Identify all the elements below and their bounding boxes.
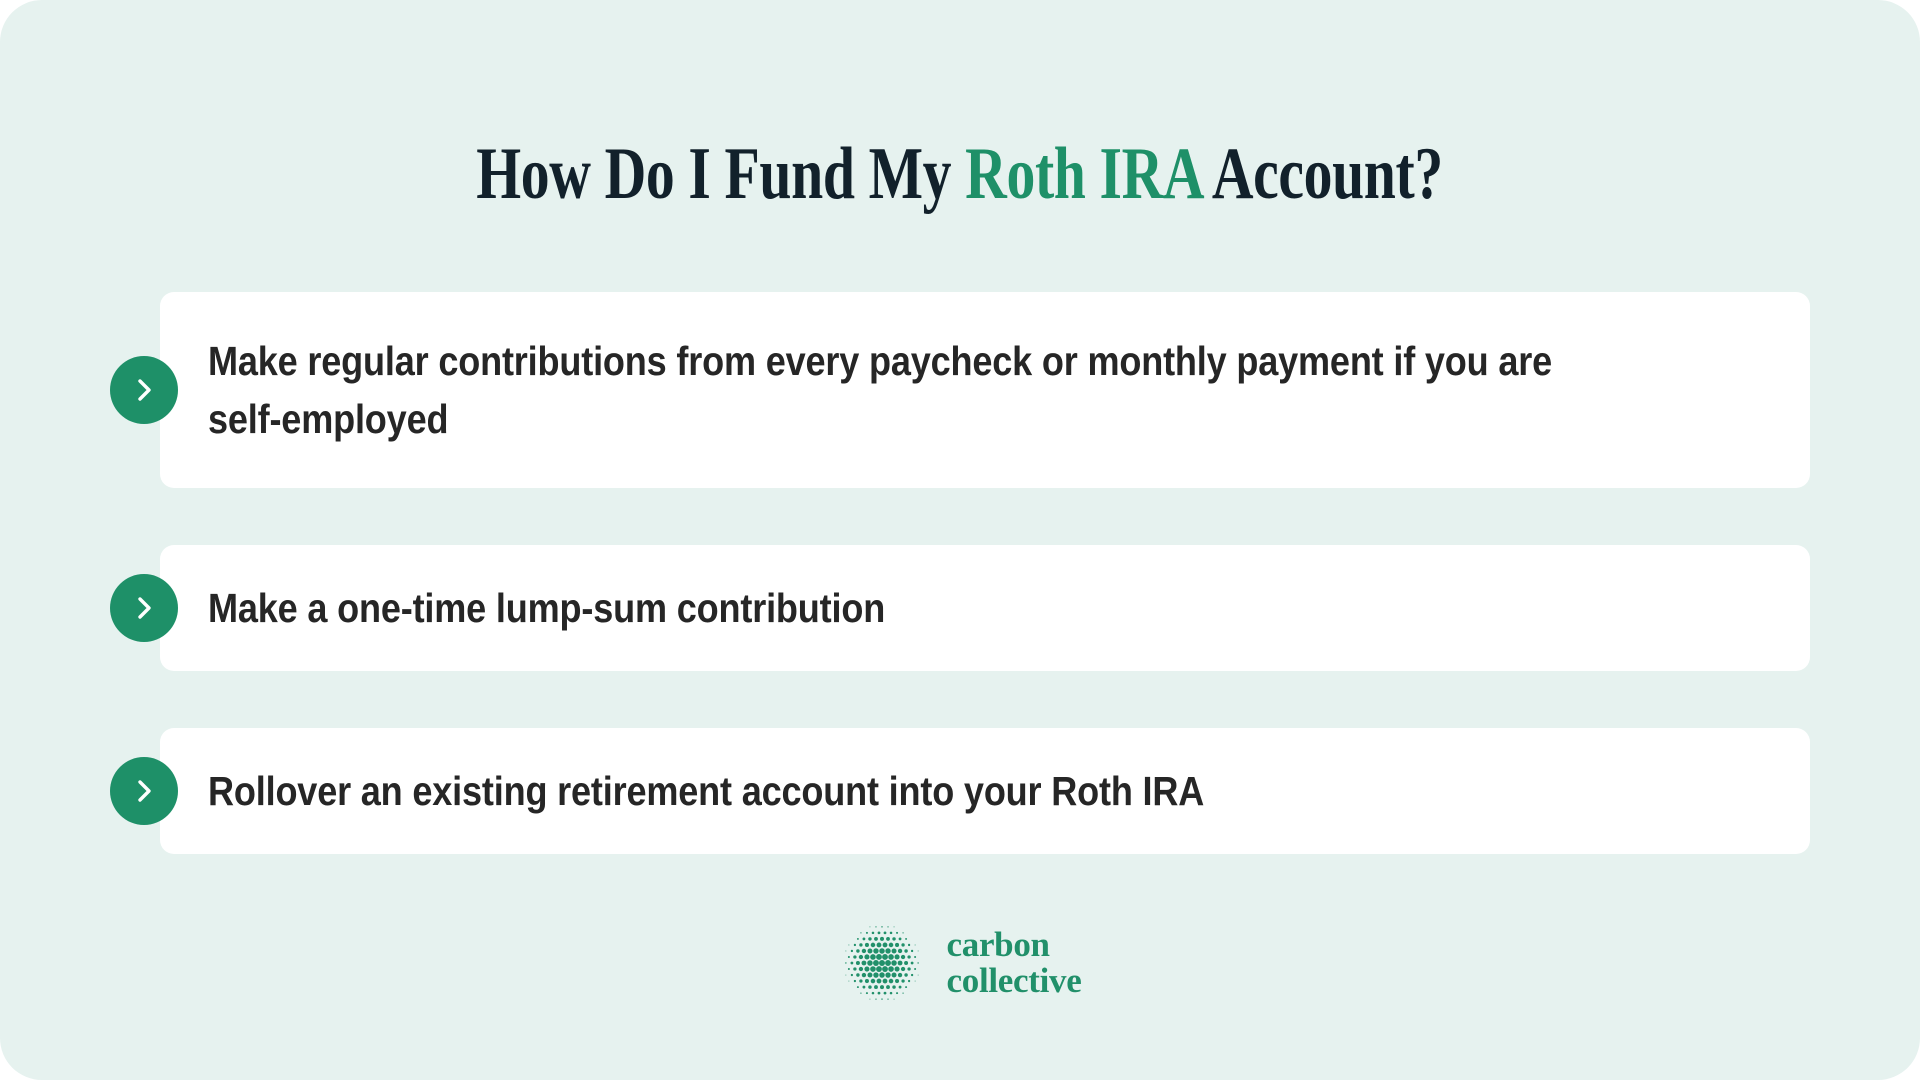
page-title-part-2: Account?	[1201, 133, 1443, 215]
funding-method-card: Make regular contributions from every pa…	[160, 292, 1810, 488]
carbon-collective-dots-logo	[839, 920, 925, 1006]
page-title-accent: Roth IRA	[966, 133, 1202, 215]
funding-method-card: Rollover an existing retirement account …	[160, 728, 1810, 854]
infographic-canvas: How Do I Fund My Roth IRA Account? Make …	[0, 0, 1920, 1080]
chevron-right-circle-icon	[110, 757, 178, 825]
brand-logo: carbon collective	[0, 920, 1920, 1006]
funding-method-text: Make regular contributions from every pa…	[208, 332, 1583, 448]
chevron-right-circle-icon	[110, 356, 178, 424]
funding-method-text: Make a one-time lump-sum contribution	[208, 579, 1583, 637]
brand-logo-line-1: carbon	[947, 927, 1082, 963]
list-item: Rollover an existing retirement account …	[0, 728, 1920, 854]
brand-logo-line-2: collective	[947, 963, 1082, 999]
funding-method-text: Rollover an existing retirement account …	[208, 762, 1583, 820]
chevron-right-circle-icon	[110, 574, 178, 642]
page-title-part-1: How Do I Fund My	[477, 133, 966, 215]
list-item: Make regular contributions from every pa…	[0, 292, 1920, 488]
brand-logo-text: carbon collective	[947, 927, 1082, 998]
page-title: How Do I Fund My Roth IRA Account?	[477, 136, 1444, 214]
funding-methods-list: Make regular contributions from every pa…	[0, 292, 1920, 854]
funding-method-card: Make a one-time lump-sum contribution	[160, 545, 1810, 671]
page-title-container: How Do I Fund My Roth IRA Account?	[0, 86, 1920, 263]
list-item: Make a one-time lump-sum contribution	[0, 545, 1920, 671]
